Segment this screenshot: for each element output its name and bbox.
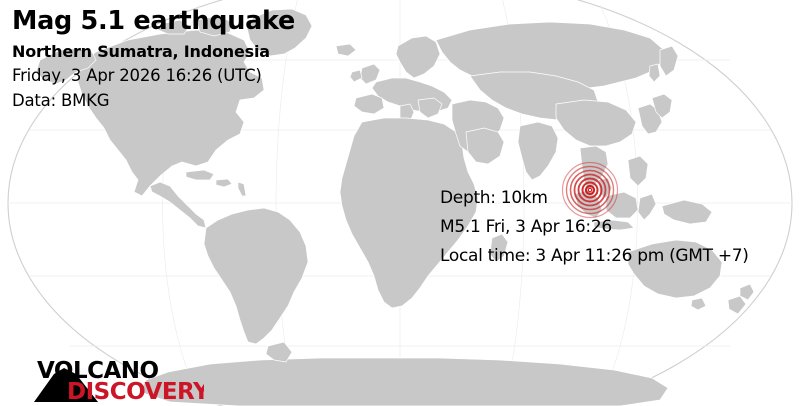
logo-svg: VOLCANO DISCOVERY — [34, 352, 204, 402]
volcanodiscovery-logo[interactable]: VOLCANO DISCOVERY — [34, 352, 204, 402]
header-block: Mag 5.1 earthquake Northern Sumatra, Ind… — [12, 8, 295, 110]
epicenter-marker[interactable] — [561, 161, 619, 219]
quake-local-time-label: Local time: 3 Apr 11:26 pm (GMT +7) — [440, 248, 749, 265]
epicenter-center-dot — [588, 188, 591, 191]
earthquake-map-image: Mag 5.1 earthquake Northern Sumatra, Ind… — [0, 0, 800, 406]
page-title: Mag 5.1 earthquake — [12, 8, 295, 36]
quake-datetime-label: Friday, 3 Apr 2026 16:26 (UTC) — [12, 67, 295, 85]
quake-region-label: Northern Sumatra, Indonesia — [12, 43, 295, 61]
quake-data-source-label: Data: BMKG — [12, 92, 295, 110]
logo-word-discovery: DISCOVERY — [67, 379, 204, 402]
quake-magnitude-time-label: M5.1 Fri, 3 Apr 16:26 — [440, 219, 749, 236]
epicenter-rings-icon — [561, 161, 619, 219]
